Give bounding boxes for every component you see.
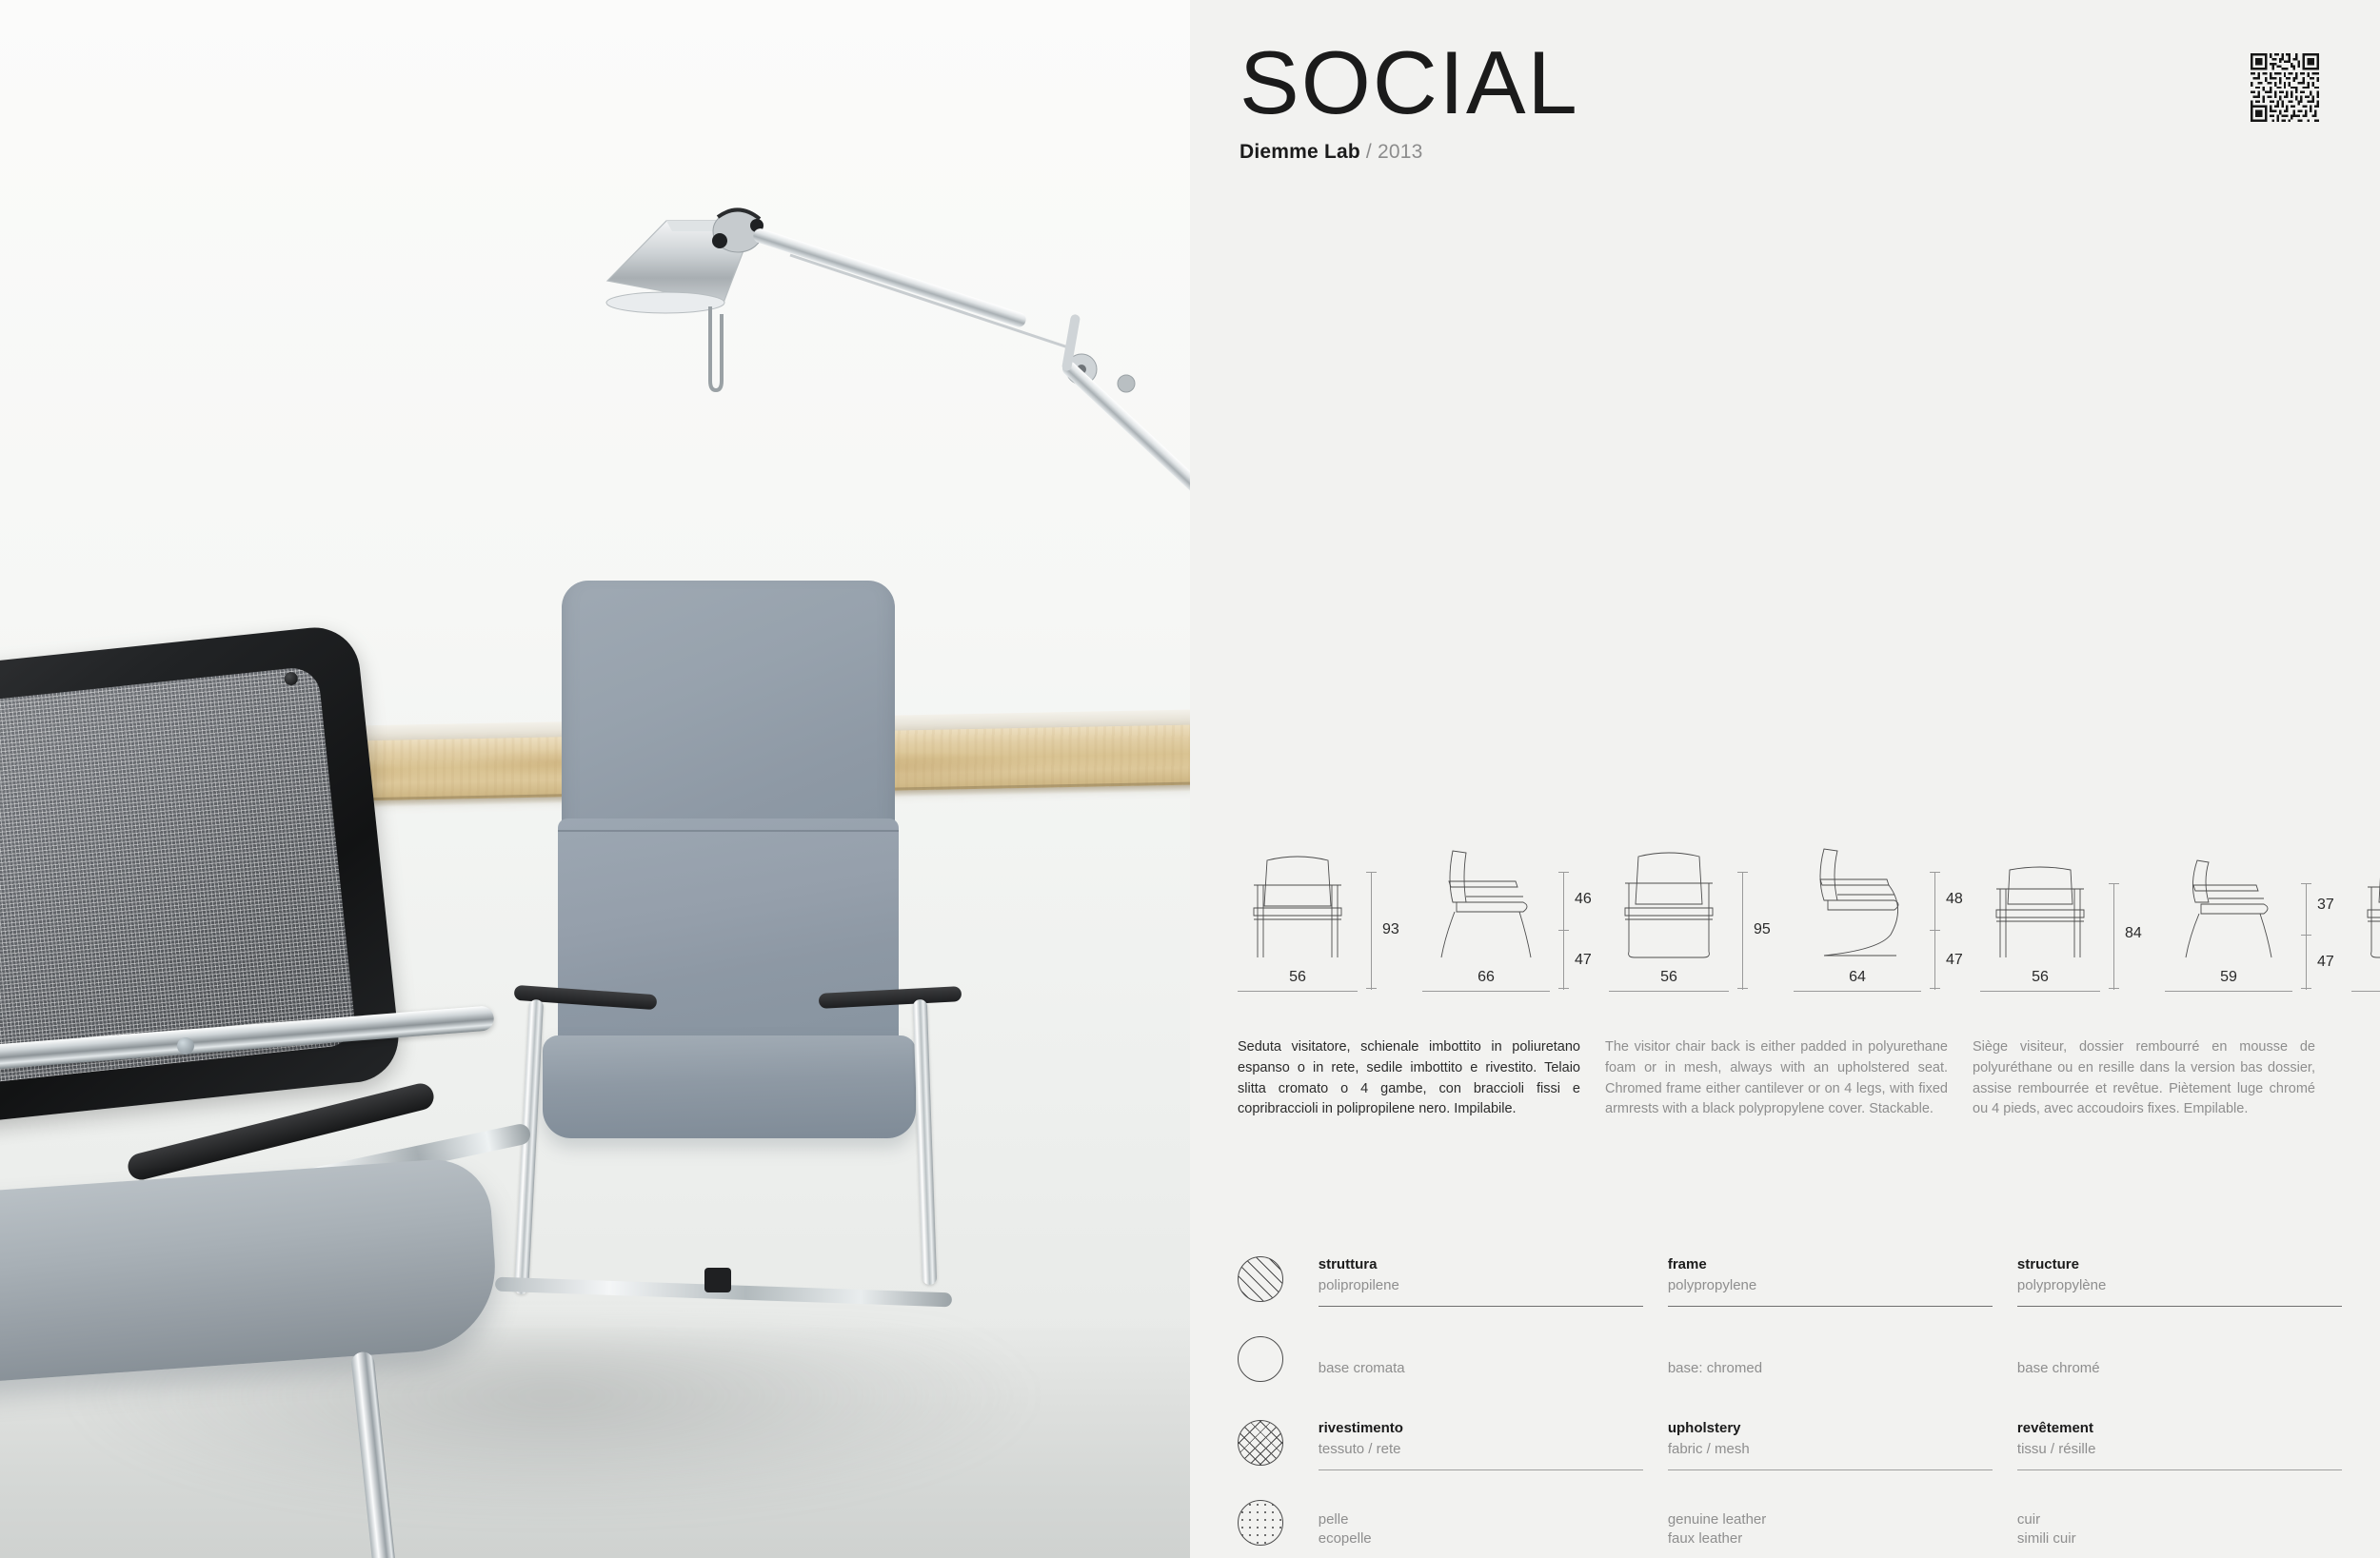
legend-base-en: base: chromed (1668, 1336, 1993, 1420)
product-descriptions: Seduta visitatore, schienale imbottito i… (1238, 1037, 2337, 1120)
front-view-1: 56 (1238, 839, 1358, 992)
legend-leather1-fr: cuir (2017, 1511, 2342, 1528)
legend-frame-fr: structure polypropylène (2017, 1256, 2342, 1336)
legend-divider (1319, 1306, 1643, 1307)
seat-dimensions-1: 46 47 (1556, 870, 1609, 992)
legend-frame-en: frame polypropylene (1668, 1256, 1993, 1336)
width-dimension-line (1609, 991, 1729, 992)
chair-floor-glide (704, 1268, 731, 1292)
legend-leather-en: genuine leather faux leather (1668, 1511, 1993, 1558)
side-view-figure (1794, 839, 1921, 961)
description-italian: Seduta visitatore, schienale imbottito i… (1238, 1037, 1580, 1120)
drawing-group-4: 56 84 (2351, 820, 2380, 992)
legend-column-french: structure polypropylène base chromé revê… (2017, 1256, 2342, 1558)
technical-drawings: 56 93 (1238, 820, 2332, 992)
drawing-group-3: 56 84 (1980, 820, 2351, 992)
page-title: SOCIAL (1240, 38, 1579, 128)
depth-dimension-line (2165, 991, 2292, 992)
specification-panel: SOCIAL Diemme Lab / 2013 (1190, 0, 2380, 1558)
front-width-label: 56 (1980, 969, 2100, 986)
seat-height-label: 47 (1575, 952, 1592, 969)
legend-upholstery-material-en: fabric / mesh (1668, 1441, 1993, 1457)
legend-base-fr-text: base chromé (2017, 1360, 2342, 1376)
front-view-figure (1980, 839, 2100, 961)
design-year: 2013 (1378, 141, 1423, 163)
legend-divider (1668, 1306, 1993, 1307)
chair-seat-cushion (543, 1035, 916, 1138)
side-view-1: 66 (1422, 839, 1550, 992)
credit-separator: / (1366, 141, 1372, 163)
legend-upholstery-title-en: upholstery (1668, 1420, 1993, 1436)
cross-hatch-swatch-icon (1238, 1420, 1283, 1466)
legend-frame-title-it: struttura (1319, 1256, 1643, 1272)
side-view-2: 64 (1794, 839, 1921, 992)
description-text-en: The visitor chair back is either padded … (1605, 1037, 1948, 1120)
designer-name: Diemme Lab (1240, 141, 1360, 163)
width-dimension-line (1238, 991, 1358, 992)
height-dimension-3: 84 (2106, 870, 2159, 992)
legend-upholstery-title-it: rivestimento (1319, 1420, 1643, 1436)
legend-leather1-en: genuine leather (1668, 1511, 1993, 1528)
legend-upholstery-fr: revêtement tissu / résille (2017, 1420, 2342, 1500)
front-view-4: 56 (2351, 839, 2380, 992)
swatch-slot-leather (1238, 1500, 1294, 1558)
front-height-label: 95 (1754, 921, 1771, 938)
front-view-figure (2351, 839, 2380, 961)
legend-leather-it: pelle ecopelle (1319, 1511, 1643, 1558)
legend-base-fr: base chromé (2017, 1336, 2342, 1420)
chrome-leg (350, 1351, 396, 1558)
side-view-figure (2165, 839, 2292, 961)
qr-code-icon[interactable] (2251, 53, 2319, 122)
catalog-page: SOCIAL Diemme Lab / 2013 (0, 0, 2380, 1558)
front-width-label: 56 (2351, 969, 2380, 986)
upholstered-chair-background (533, 581, 942, 1409)
description-english: The visitor chair back is either padded … (1605, 1037, 1948, 1120)
front-view-figure (1238, 839, 1358, 961)
depth-dimension-line (1422, 991, 1550, 992)
legend-column-english: frame polypropylene base: chromed uphols… (1668, 1256, 1993, 1558)
legend-leather2-fr: simili cuir (2017, 1530, 2342, 1547)
height-dimension-1: 93 (1363, 870, 1417, 992)
seat-dimensions-3: 37 47 (2298, 870, 2351, 992)
back-height-label: 37 (2317, 897, 2334, 914)
front-view-figure (1609, 839, 1729, 961)
description-french: Siège visiteur, dossier rembourré en mou… (1973, 1037, 2315, 1120)
legend-leather1-it: pelle (1319, 1511, 1643, 1528)
legend-divider (1319, 1469, 1643, 1470)
width-dimension-line (2351, 991, 2380, 992)
chrome-frame-right (913, 999, 937, 1285)
legend-divider (2017, 1469, 2342, 1470)
material-swatches (1238, 1256, 1294, 1558)
drawing-group-1: 56 93 (1238, 820, 1609, 992)
front-height-label: 84 (2125, 925, 2142, 942)
front-height-label: 93 (1382, 921, 1399, 938)
legend-upholstery-en: upholstery fabric / mesh (1668, 1420, 1993, 1500)
plain-circle-swatch-icon (1238, 1336, 1283, 1382)
legend-base-it-text: base cromata (1319, 1360, 1643, 1376)
legend-frame-material-fr: polypropylène (2017, 1277, 2342, 1293)
swatch-slot-frame (1238, 1256, 1294, 1336)
legend-upholstery-material-it: tessuto / rete (1319, 1441, 1643, 1457)
front-width-label: 56 (1609, 969, 1729, 986)
materials-legend: struttura polipropilene base cromata riv… (1238, 1256, 2342, 1558)
legend-column-italian: struttura polipropilene base cromata riv… (1319, 1256, 1643, 1558)
seat-dimensions-2: 48 47 (1927, 870, 1980, 992)
product-photo (0, 0, 1190, 1558)
legend-upholstery-material-fr: tissu / résille (2017, 1441, 2342, 1457)
front-view-2: 56 (1609, 839, 1729, 992)
swatch-slot-base (1238, 1336, 1294, 1420)
legend-divider (2017, 1306, 2342, 1307)
legend-frame-it: struttura polipropilene (1319, 1256, 1643, 1336)
legend-frame-material-it: polipropilene (1319, 1277, 1643, 1293)
legend-base-en-text: base: chromed (1668, 1360, 1993, 1376)
legend-base-it: base cromata (1319, 1336, 1643, 1420)
designer-credit: Diemme Lab / 2013 (1240, 141, 1579, 164)
width-dimension-line (1980, 991, 2100, 992)
seat-height-label: 47 (1946, 952, 1963, 969)
diagonal-hatch-swatch-icon (1238, 1256, 1283, 1302)
front-view-3: 56 (1980, 839, 2100, 992)
height-dimension-2: 95 (1735, 870, 1788, 992)
mesh-chair-black-frame (0, 623, 403, 1148)
depth-dimension-line (1794, 991, 1921, 992)
chair-back-seam (558, 830, 899, 832)
side-view-3: 59 (2165, 839, 2292, 992)
mesh-back-chair-foreground (0, 657, 552, 1558)
legend-frame-title-en: frame (1668, 1256, 1993, 1272)
legend-leather-fr: cuir simili cuir (2017, 1511, 2342, 1558)
description-text-fr: Siège visiteur, dossier rembourré en mou… (1973, 1037, 2315, 1120)
legend-frame-material-en: polypropylene (1668, 1277, 1993, 1293)
chair-backrest-lower (558, 818, 899, 1066)
drawing-group-2: 56 95 (1609, 820, 1980, 992)
side-depth-label: 66 (1422, 969, 1550, 986)
back-height-label: 46 (1575, 891, 1592, 908)
mesh-chair-seat (0, 1156, 501, 1405)
legend-frame-title-fr: structure (2017, 1256, 2342, 1272)
title-block: SOCIAL Diemme Lab / 2013 (1240, 38, 1579, 164)
legend-leather2-it: ecopelle (1319, 1530, 1643, 1547)
description-text-it: Seduta visitatore, schienale imbottito i… (1238, 1037, 1580, 1120)
swatch-slot-upholstery (1238, 1420, 1294, 1500)
dotted-swatch-icon (1238, 1500, 1283, 1546)
legend-upholstery-title-fr: revêtement (2017, 1420, 2342, 1436)
side-depth-label: 59 (2165, 969, 2292, 986)
legend-upholstery-it: rivestimento tessuto / rete (1319, 1420, 1643, 1500)
front-width-label: 56 (1238, 969, 1358, 986)
side-view-figure (1422, 839, 1550, 961)
back-height-label: 48 (1946, 891, 1963, 908)
legend-leather2-en: faux leather (1668, 1530, 1993, 1547)
seat-height-label: 47 (2317, 954, 2334, 971)
side-depth-label: 64 (1794, 969, 1921, 986)
legend-divider (1668, 1469, 1993, 1470)
